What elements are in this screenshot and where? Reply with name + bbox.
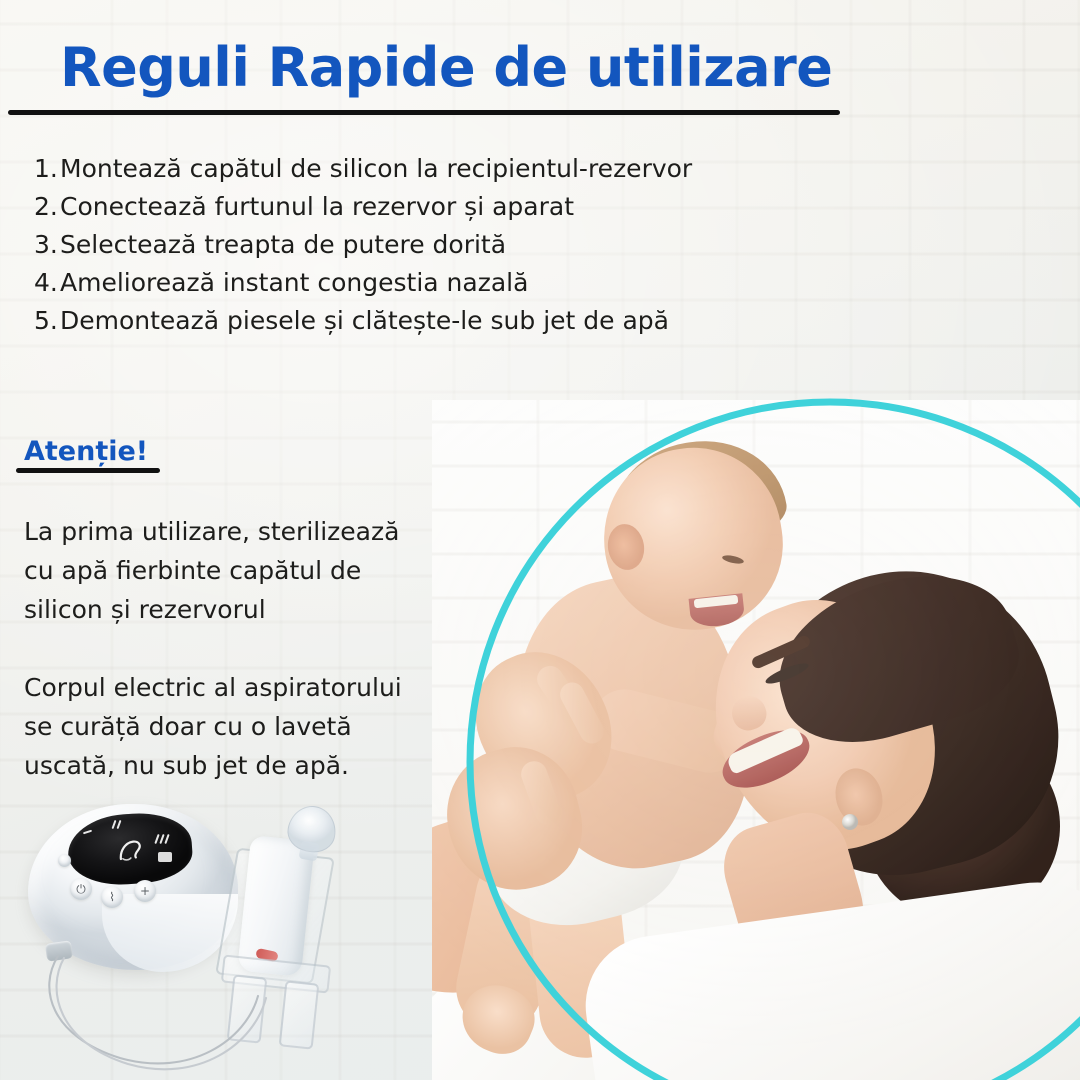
nose-icon	[113, 836, 147, 863]
product-nasal-aspirator: ⏻ ⌇ +	[10, 790, 360, 1080]
list-item: 3. Selectează treapta de putere dorită	[34, 226, 734, 264]
attention-body: La prima utilizare, sterilizează cu apă …	[24, 512, 454, 785]
battery-icon	[158, 852, 172, 862]
step-text: Demontează piesele și clătește-le sub je…	[60, 302, 734, 340]
attention-line: silicon și rezervorul	[24, 590, 454, 629]
list-item: 5. Demontează piesele și clătește-le sub…	[34, 302, 734, 340]
attention-line: se curăță doar cu o lavetă	[24, 707, 454, 746]
mother-earring	[842, 814, 858, 830]
attention-line: uscată, nu sub jet de apă.	[24, 746, 454, 785]
photo-mother-and-baby	[432, 400, 1080, 1080]
photo-backdrop	[432, 400, 1080, 1080]
step-number: 3.	[34, 226, 60, 264]
attention-underline	[16, 468, 160, 473]
steps-list: 1. Montează capătul de silicon la recipi…	[34, 150, 734, 340]
power-button[interactable]: ⏻	[70, 878, 92, 900]
list-item: 2. Conectează furtunul la rezervor și ap…	[34, 188, 734, 226]
step-number: 5.	[34, 302, 60, 340]
attention-paragraph-2: Corpul electric al aspiratorului se cură…	[24, 668, 454, 785]
step-number: 2.	[34, 188, 60, 226]
attention-line: Corpul electric al aspiratorului	[24, 668, 454, 707]
attention-paragraph-1: La prima utilizare, sterilizează cu apă …	[24, 512, 454, 629]
reservoir-leg-right	[279, 980, 320, 1049]
step-text: Selectează treapta de putere dorită	[60, 226, 734, 264]
device-tube-port	[45, 940, 73, 961]
step-text: Ameliorează instant congestia nazală	[60, 264, 734, 302]
attention-line: cu apă fierbinte capătul de	[24, 551, 454, 590]
step-number: 1.	[34, 150, 60, 188]
list-item: 4. Ameliorează instant congestia nazală	[34, 264, 734, 302]
reservoir-leg-left	[227, 974, 268, 1043]
minus-indicator	[58, 854, 71, 867]
poster-canvas: Reguli Rapide de utilizare 1. Montează c…	[0, 0, 1080, 1080]
plus-button[interactable]: +	[134, 880, 156, 902]
page-title: Reguli Rapide de utilizare	[60, 36, 832, 99]
list-item: 1. Montează capătul de silicon la recipi…	[34, 150, 734, 188]
step-text: Montează capătul de silicon la recipient…	[60, 150, 734, 188]
mode-button[interactable]: ⌇	[101, 886, 123, 908]
attention-line: La prima utilizare, sterilizează	[24, 512, 454, 551]
step-number: 4.	[34, 264, 60, 302]
step-text: Conectează furtunul la rezervor și apara…	[60, 188, 734, 226]
title-underline	[8, 110, 840, 115]
attention-heading: Atenție!	[24, 436, 148, 467]
reservoir-assembly	[208, 800, 348, 1040]
